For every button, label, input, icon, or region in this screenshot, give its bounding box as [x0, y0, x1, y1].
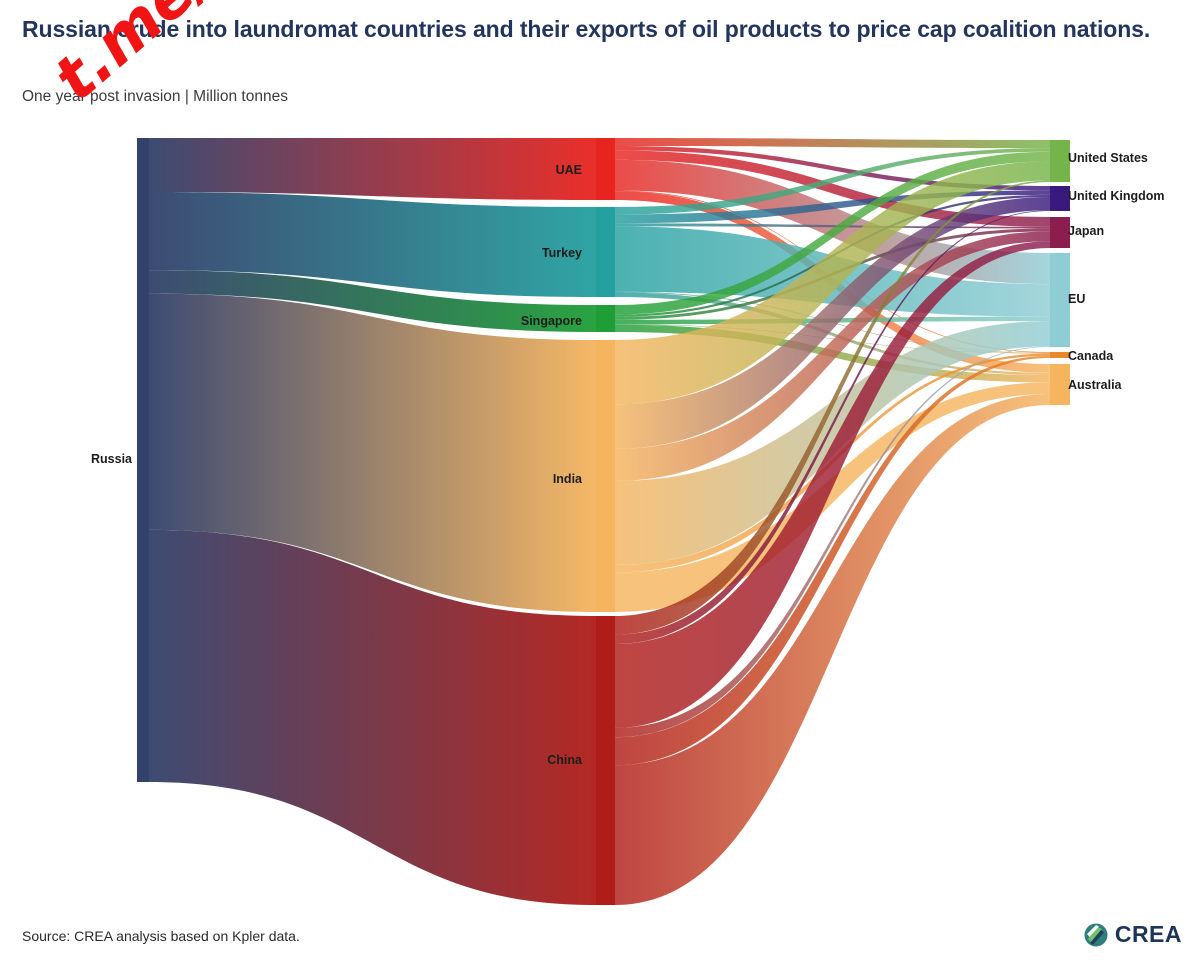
sankey-node-russia[interactable] — [137, 138, 149, 782]
sankey-node-united-states[interactable] — [1050, 140, 1070, 182]
node-label-india: India — [430, 472, 582, 486]
sankey-node-canada[interactable] — [1050, 352, 1070, 358]
node-label-united-kingdom: United Kingdom — [1068, 189, 1165, 203]
crea-mark-icon — [1083, 922, 1109, 948]
node-label-eu: EU — [1068, 292, 1085, 306]
sankey-diagram — [0, 0, 1200, 970]
node-label-russia: Russia — [40, 452, 132, 466]
sankey-node-china[interactable] — [596, 616, 615, 905]
sankey-node-united-kingdom[interactable] — [1050, 186, 1070, 211]
sankey-node-eu[interactable] — [1050, 253, 1070, 347]
crea-logo: CREA — [1083, 921, 1182, 948]
sankey-node-australia[interactable] — [1050, 364, 1070, 405]
crea-logo-text: CREA — [1115, 921, 1182, 948]
sankey-node-singapore[interactable] — [596, 305, 615, 332]
node-label-uae: UAE — [430, 163, 582, 177]
sankey-node-uae[interactable] — [596, 138, 615, 200]
node-label-canada: Canada — [1068, 349, 1113, 363]
node-label-turkey: Turkey — [430, 246, 582, 260]
sankey-link — [615, 138, 1050, 148]
source-note: Source: CREA analysis based on Kpler dat… — [22, 928, 300, 944]
node-label-japan: Japan — [1068, 224, 1104, 238]
sankey-node-japan[interactable] — [1050, 217, 1070, 248]
node-label-australia: Australia — [1068, 378, 1122, 392]
node-label-china: China — [430, 753, 582, 767]
sankey-node-turkey[interactable] — [596, 207, 615, 297]
sankey-node-india[interactable] — [596, 340, 615, 612]
node-label-singapore: Singapore — [430, 314, 582, 328]
sankey-page: Russian crude into laundromat countries … — [0, 0, 1200, 970]
node-label-united-states: United States — [1068, 151, 1148, 165]
